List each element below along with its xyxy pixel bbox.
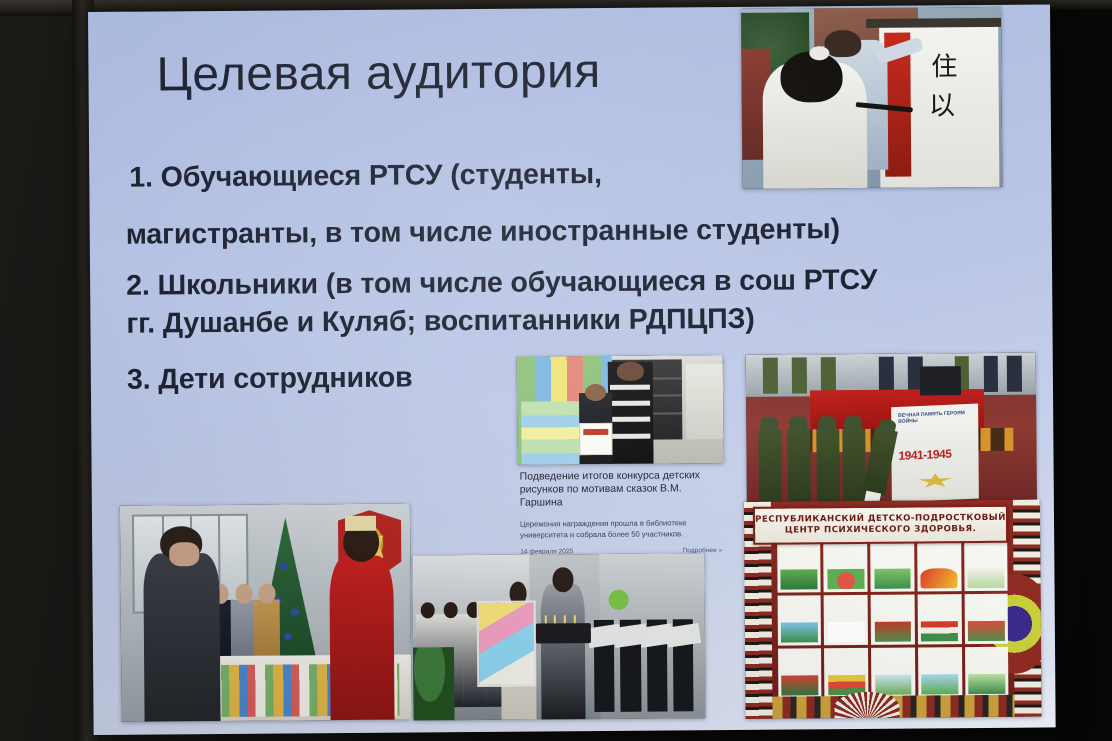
bullet-item-1-line-2: магистранты, в том числе иностранные сту… bbox=[126, 213, 840, 252]
memorial-years: 1941-1945 bbox=[898, 446, 951, 462]
bullet-item-2-line-1: 2. Школьники (в том числе обучающиеся в … bbox=[126, 264, 877, 303]
status-badge: РЕСПУБЛИКАНСКИЙ ДЕТСКО-ПОДРОСТКОВЫЙ ЦЕНТ… bbox=[753, 505, 1008, 545]
news-text-block: Подведение итогов конкурса детских рисун… bbox=[520, 469, 723, 541]
news-headline: Подведение итогов конкурса детских рисун… bbox=[520, 469, 722, 510]
photo-calligraphy: 住 以 bbox=[741, 7, 1002, 189]
photo-new-year-fair bbox=[120, 503, 412, 721]
photo-memorial-ceremony: ВЕЧНАЯ ПАМЯТЬ ГЕРОЯМ ВОЙНЫ 1941-1945 bbox=[746, 353, 1037, 518]
star-icon bbox=[918, 473, 953, 490]
bullet-item-3: 3. Дети сотрудников bbox=[127, 361, 413, 396]
news-summary: Церемония награждения прошла в библиотек… bbox=[520, 518, 722, 541]
banner-line-2: ЦЕНТР ПСИХИЧЕСКОГО ЗДОРОВЬЯ. bbox=[785, 524, 977, 537]
presentation-slide: Целевая аудитория 1. Обучающиеся РТСУ (с… bbox=[88, 4, 1056, 735]
chinese-character-icon: 住 bbox=[931, 54, 957, 80]
chinese-character-icon: 以 bbox=[929, 94, 955, 120]
projector-room-photo: Целевая аудитория 1. Обучающиеся РТСУ (с… bbox=[0, 0, 1112, 741]
memorial-board-text: ВЕЧНАЯ ПАМЯТЬ ГЕРОЯМ ВОЙНЫ bbox=[898, 410, 971, 425]
photo-library-award bbox=[517, 355, 724, 465]
bullet-item-1-line-1: 1. Обучающиеся РТСУ (студенты, bbox=[129, 158, 602, 195]
photo-students-poster-cake bbox=[412, 553, 705, 720]
page-title: Целевая аудитория bbox=[156, 44, 601, 102]
news-card: Подведение итогов конкурса детских рисун… bbox=[509, 347, 733, 579]
bullet-item-2-line-2: гг. Душанбе и Куляб; воспитанники РДПЦПЗ… bbox=[126, 303, 754, 341]
